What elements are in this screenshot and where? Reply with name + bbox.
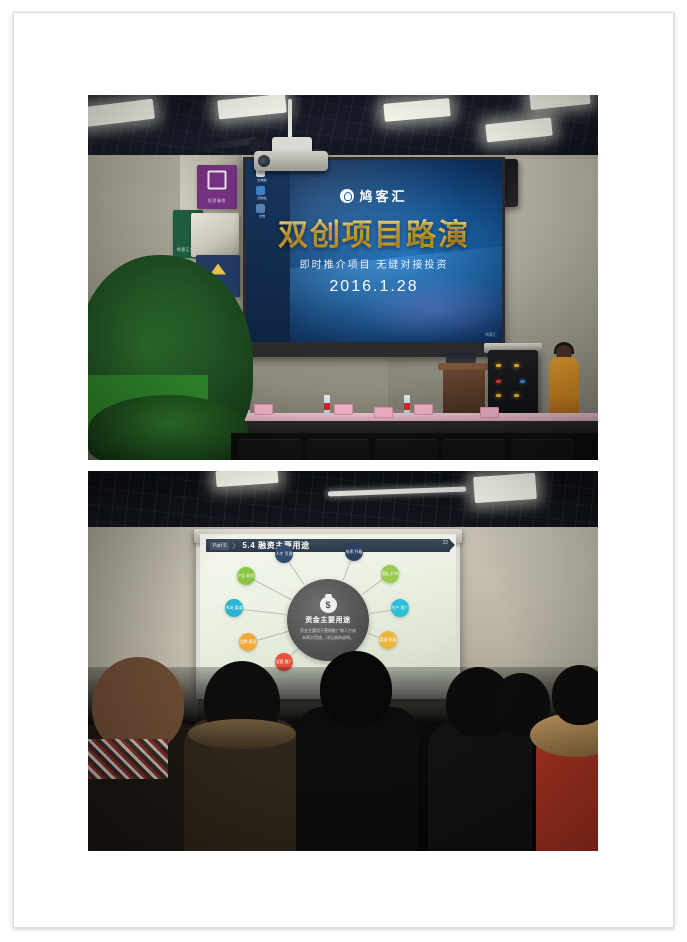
status-led	[496, 380, 501, 383]
slide-corner-note: 鸠客汇	[485, 332, 497, 338]
attendee-center-right-body	[428, 721, 532, 851]
name-placard	[334, 404, 353, 415]
diagram-node: 品牌 建设	[239, 633, 257, 651]
wall-poster-purple: 投资服务	[197, 165, 237, 209]
diagram-spoke	[362, 579, 383, 595]
brand-logo-icon	[340, 189, 354, 203]
diagram-node: 技术 升级	[345, 543, 363, 561]
diagram-spoke	[290, 648, 298, 656]
diagram-node: 人才 引进	[275, 545, 293, 563]
scarf	[88, 739, 168, 779]
investment-icon	[208, 170, 227, 189]
diagram-spoke	[367, 633, 379, 638]
diagram-node: 产品 研发	[237, 567, 255, 585]
status-led	[496, 394, 501, 397]
audience-watching-presentation-photo: Part 5 〉 5.4 融资主要用途 22 人才 引进产品 研发市场 渠道品牌…	[88, 471, 598, 851]
diagram-node: 渠道 拓展	[379, 631, 397, 649]
wall-poster-photo	[191, 213, 239, 257]
attendee-black-jacket	[320, 651, 392, 727]
diagram-node: 生产 推广	[391, 599, 409, 617]
name-placard	[414, 404, 433, 415]
diagram-spoke	[243, 609, 286, 615]
slide-page-number: 22	[442, 540, 448, 546]
status-led	[496, 364, 501, 367]
name-placard	[480, 407, 499, 418]
poster-caption: 投资服务	[197, 198, 237, 204]
presenter-coat	[549, 357, 579, 421]
fur-trim	[188, 719, 296, 749]
projector-mount-pole	[288, 99, 292, 141]
water-bottle	[404, 395, 410, 415]
chair	[239, 439, 301, 460]
diagram-spoke	[257, 631, 288, 641]
projector-lens-icon	[258, 155, 270, 167]
chair	[307, 439, 369, 460]
diagram-spoke	[343, 561, 351, 581]
name-placard	[374, 407, 393, 418]
hub-body-text: 资金主要用于营销推广和人力成本两大用途，详见具体说明。	[299, 628, 357, 642]
status-led	[514, 394, 519, 397]
diagram-spoke	[369, 609, 391, 613]
slide-part-tag: Part 5	[210, 542, 229, 550]
status-led	[514, 364, 519, 367]
attendee-red-coat	[552, 665, 598, 725]
desktop-icon-label: 此电脑	[251, 178, 273, 182]
money-bag-icon	[320, 597, 337, 613]
hub-title: 资金主要用途	[305, 615, 351, 625]
chair-rows	[231, 433, 598, 460]
slide-brand: 鸠客汇	[246, 186, 502, 205]
diagram-node: 市场 渠道	[225, 599, 243, 617]
slide-title: 双创项目路演	[246, 210, 502, 254]
diagram-node: 团队 扩充	[381, 565, 399, 583]
conference-room-roadshow-photo: 鸠客汇空间 投资服务 创业服务 此电脑 回收站 文档	[88, 95, 598, 460]
ceiling-light	[473, 473, 537, 503]
slide-date: 2016.1.28	[246, 278, 502, 296]
slide-header-bar: Part 5 〉 5.4 融资主要用途	[206, 539, 450, 552]
document-page: 鸠客汇空间 投资服务 创业服务 此电脑 回收站 文档	[0, 0, 687, 942]
potted-plant-foreground	[88, 395, 248, 460]
diagram-spoke	[289, 562, 305, 585]
slide-subtitle: 即时推介项目 无缝对接投资	[246, 256, 502, 271]
brand-name: 鸠客汇	[359, 186, 407, 205]
diagram-spoke	[254, 580, 291, 600]
water-bottle	[324, 395, 330, 415]
chair	[375, 439, 437, 460]
chair	[511, 439, 573, 460]
attendee-black-jacket-body	[296, 707, 418, 851]
projection-screen: 此电脑 回收站 文档 鸠客汇 双创项目路演 即时推介项目 无缝对接投资 2016…	[246, 160, 502, 342]
chevron-right-icon: 〉	[232, 541, 239, 551]
name-placard	[254, 404, 273, 415]
podium-top	[438, 363, 490, 370]
status-led	[520, 380, 525, 383]
podium	[443, 367, 485, 415]
chair	[443, 439, 505, 460]
diagram-hub: 资金主要用途 资金主要用于营销推广和人力成本两大用途，详见具体说明。	[287, 579, 369, 661]
